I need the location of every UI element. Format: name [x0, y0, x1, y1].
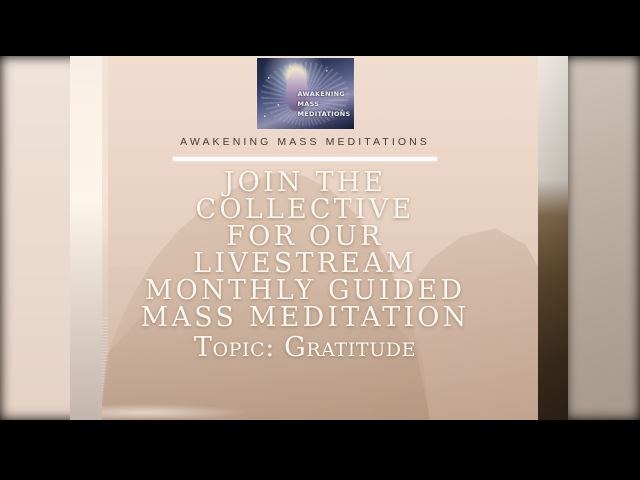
logo-overlay-line-3: MEDITATIONS	[298, 109, 351, 119]
headline-line-4: LIVESTREAM	[141, 250, 470, 277]
headline-line-6: MASS MEDITATION	[141, 304, 470, 331]
divider-rule	[173, 157, 437, 161]
logo-overlay-line-1: AWAKENING	[298, 89, 351, 99]
awakening-mass-meditations-logo-icon: AWAKENING MASS MEDITATIONS	[257, 58, 354, 129]
topic-line: Topic: Gratitude	[194, 334, 416, 361]
blurred-background-right	[565, 56, 640, 420]
letterbox-bottom	[0, 420, 640, 480]
video-frame: AWAKENING MASS MEDITATIONS AWAKENING MAS…	[0, 0, 640, 480]
meditation-poster: AWAKENING MASS MEDITATIONS AWAKENING MAS…	[70, 56, 540, 420]
headline-line-5: MONTHLY GUIDED	[141, 277, 470, 304]
headline-line-3: FOR OUR	[141, 223, 470, 250]
photo-edge-right	[538, 56, 568, 420]
brand-wordmark: AWAKENING MASS MEDITATIONS	[180, 136, 430, 148]
headline-block: JOIN THE COLLECTIVE FOR OUR LIVESTREAM M…	[141, 169, 470, 331]
logo-overlay-line-2: MASS	[298, 99, 351, 109]
poster-content: AWAKENING MASS MEDITATIONS AWAKENING MAS…	[70, 56, 540, 420]
headline-line-1: JOIN THE	[141, 169, 470, 196]
letterbox-top	[0, 0, 640, 56]
logo-overlay-text: AWAKENING MASS MEDITATIONS	[298, 89, 351, 119]
headline-line-2: COLLECTIVE	[141, 196, 470, 223]
